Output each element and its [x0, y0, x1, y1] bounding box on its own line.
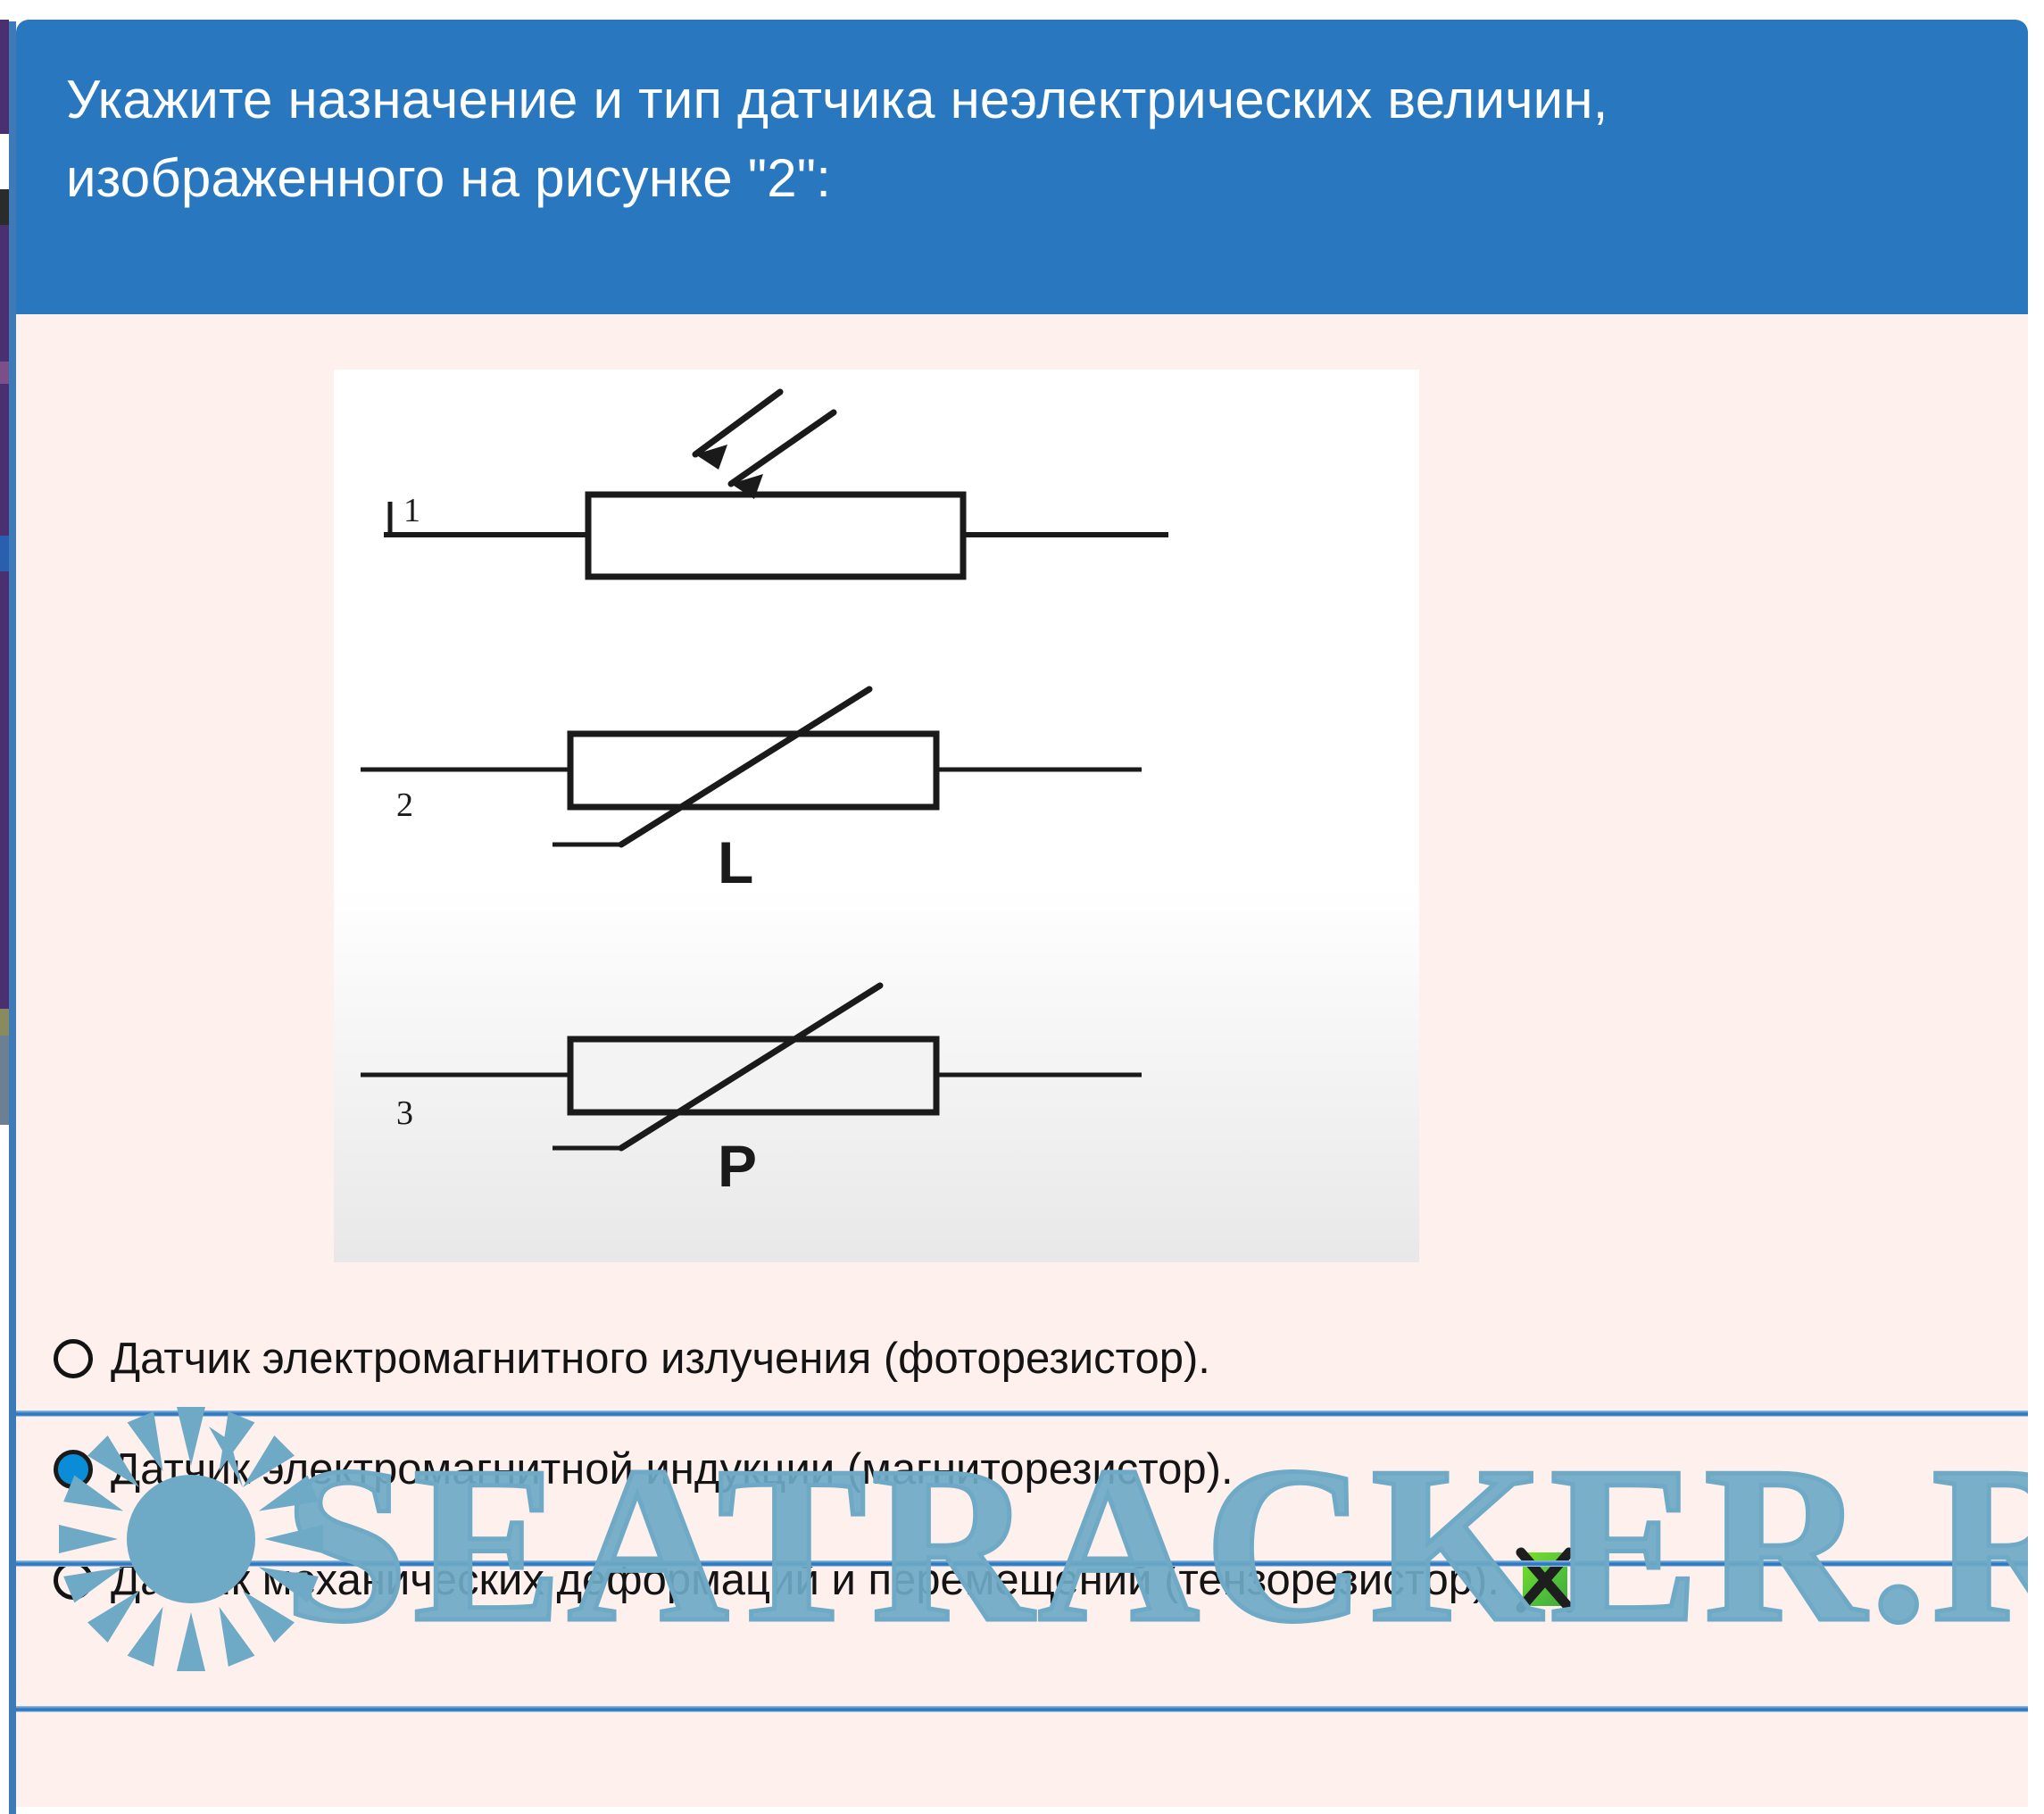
- answer-option-2[interactable]: Датчик электромагнитной индукции (магнит…: [16, 1414, 2028, 1525]
- answer-option-3[interactable]: Датчик механических деформаций и перемещ…: [16, 1525, 2028, 1635]
- answer-option-1[interactable]: Датчик электромагнитного излучения (фото…: [16, 1303, 2028, 1414]
- radio-button-option-1[interactable]: [54, 1339, 93, 1378]
- figure-item-3: [361, 986, 1142, 1148]
- divider-line-3: [16, 1706, 2028, 1712]
- page-edge-blue-strip: [9, 0, 16, 1814]
- figure-annotation-L: L: [718, 829, 753, 895]
- figure-item-1: [384, 392, 1168, 577]
- divider-line-2: [16, 1560, 2028, 1567]
- figure-label-1: 1: [403, 492, 420, 529]
- answer-options-list: Датчик электромагнитного излучения (фото…: [16, 1303, 2028, 1635]
- wrong-answer-x-icon: [1512, 1547, 1578, 1613]
- radio-button-option-2[interactable]: [54, 1450, 93, 1489]
- sensor-symbols-diagram: 1 2 L: [334, 370, 1419, 1262]
- quiz-card: Укажите назначение и тип датчика неэлект…: [16, 20, 2028, 1807]
- answer-option-2-label: Датчик электромагнитной индукции (магнит…: [111, 1444, 1234, 1494]
- figure-item-2: [361, 689, 1142, 845]
- question-body: 1 2 L: [16, 314, 2028, 1807]
- figure-annotation-P: P: [718, 1133, 757, 1199]
- figure-label-3: 3: [396, 1094, 413, 1132]
- question-header: Укажите назначение и тип датчика неэлект…: [16, 20, 2028, 314]
- question-text: Укажите назначение и тип датчика неэлект…: [66, 61, 1974, 218]
- divider-line-1: [16, 1410, 2028, 1417]
- figure-label-2: 2: [396, 786, 413, 824]
- answer-option-1-label: Датчик электромагнитного излучения (фото…: [111, 1334, 1210, 1384]
